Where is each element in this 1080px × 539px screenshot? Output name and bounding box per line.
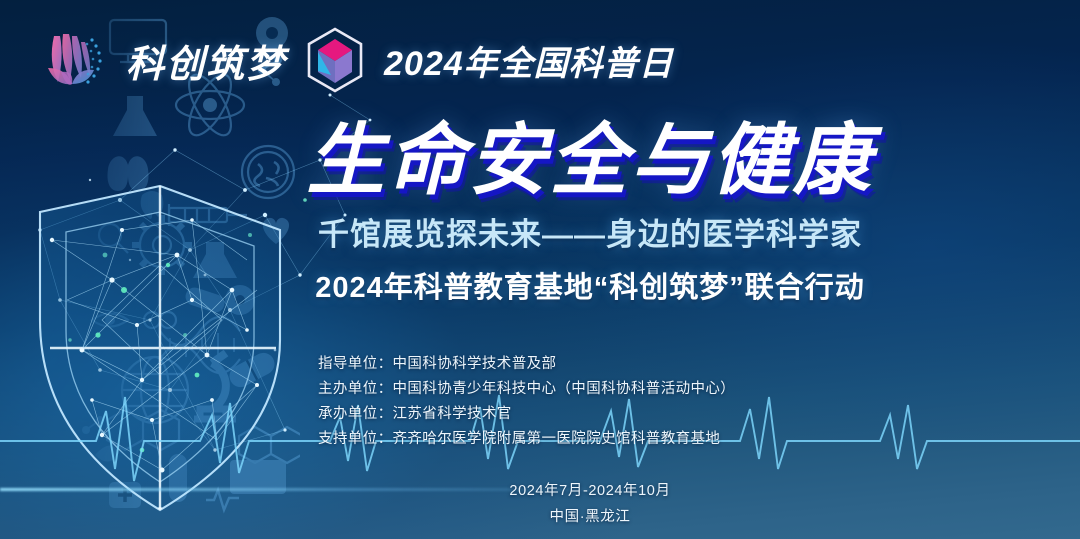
main-copy: 生命安全与健康 千馆展览探未来——身边的医学科学家 2024年科普教育基地“科创…: [250, 120, 930, 306]
subtitle-secondary: 2024年科普教育基地“科创筑梦”联合行动: [250, 264, 930, 306]
hexagon-cube-icon: [304, 27, 366, 93]
page-title: 生命安全与健康: [306, 120, 873, 201]
flask-icon: [113, 96, 157, 136]
org-line-host: 主办单位：中国科协青少年科技中心（中国科协科普活动中心）: [318, 377, 878, 402]
footer: 2024年7月-2024年10月 中国·黑龙江: [250, 478, 930, 530]
header: 科创筑梦 2024年全国科普日: [34, 24, 674, 96]
brand-name: 科创筑梦: [126, 33, 286, 88]
lotus-feather-emblem-icon: [34, 24, 112, 96]
event-name: 2024年全国科普日: [384, 36, 674, 85]
org-line-support: 支持单位：齐齐哈尔医学院附属第一医院院史馆科普教育基地: [318, 427, 878, 452]
subtitle-primary: 千馆展览探未来——身边的医学科学家: [250, 209, 930, 254]
date-range: 2024年7月-2024年10月: [250, 478, 930, 504]
org-line-guidance: 指导单位：中国科协科学技术普及部: [318, 352, 878, 377]
science-day-poster: 科创筑梦 2024年全国科普日 生命安全与健康 千馆展览探未来——身边的医学科学…: [0, 0, 1080, 539]
organization-list: 指导单位：中国科协科学技术普及部 主办单位：中国科协青少年科技中心（中国科协科普…: [318, 352, 878, 452]
location: 中国·黑龙江: [250, 504, 930, 530]
org-line-organizer: 承办单位：江苏省科学技术官: [318, 402, 878, 427]
